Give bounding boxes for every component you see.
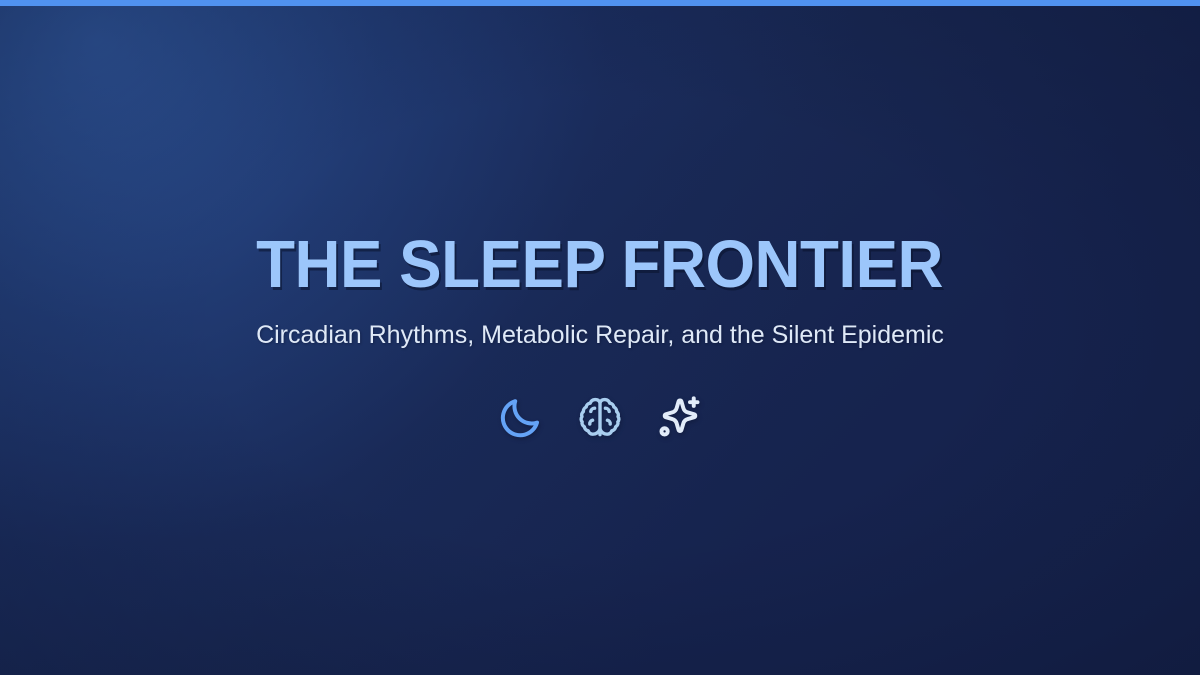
title-slide: THE SLEEP FRONTIER Circadian Rhythms, Me… — [0, 0, 1200, 675]
slide-content: THE SLEEP FRONTIER Circadian Rhythms, Me… — [0, 0, 1200, 675]
moon-icon — [494, 392, 546, 444]
page-title: THE SLEEP FRONTIER — [257, 231, 944, 298]
page-subtitle: Circadian Rhythms, Metabolic Repair, and… — [256, 320, 944, 350]
brain-icon — [574, 392, 626, 444]
sparkle-icon — [654, 392, 706, 444]
icon-row — [494, 392, 706, 444]
